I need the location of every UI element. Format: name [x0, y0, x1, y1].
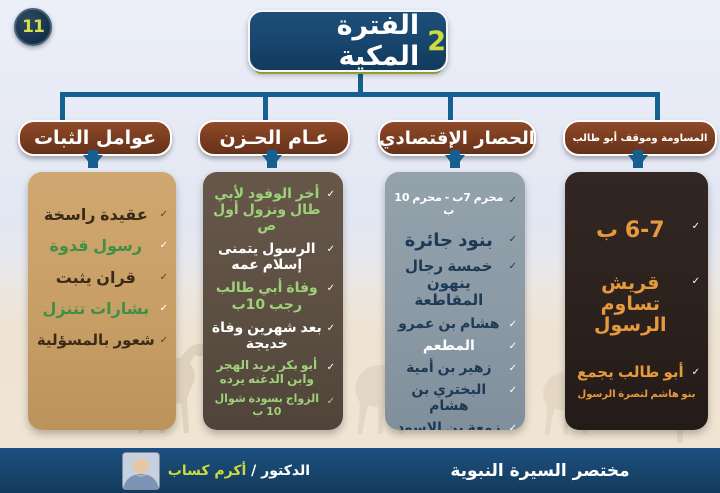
list-item-label: هشام بن عمرو	[393, 316, 505, 332]
check-icon: ✓	[327, 186, 335, 201]
panel-items-list: ✓ 6-7 ب ✓ قريش تساوم الرسول ✓ أبو طالب ي…	[573, 182, 700, 401]
list-item-label: بعد شهرين وفاة خديجة	[211, 320, 323, 352]
list-item[interactable]: ✓ قران يثبت	[36, 269, 168, 287]
footer-author-block: الدكتور / أكرم كساب	[0, 448, 310, 493]
list-item[interactable]: ✓ زهير بن أمية	[393, 360, 517, 376]
list-item-label: وفاة أبي طالب رجب 10ب	[211, 280, 323, 312]
footer-bar: الدكتور / أكرم كساب مختصر السيرة النبوية	[0, 448, 720, 493]
list-item-label: عقيدة راسخة	[36, 206, 156, 224]
page-number-badge: 11	[14, 8, 52, 46]
check-icon: ✓	[692, 273, 700, 288]
connector-drop-2	[263, 92, 268, 120]
list-item-label: أبو بكر يريد الهجر وابن الدغنه يرده	[211, 359, 323, 387]
check-icon: ✓	[327, 359, 335, 374]
list-item[interactable]: ✓ رسول قدوة	[36, 237, 168, 255]
check-icon: ✓	[160, 269, 168, 284]
connector-drop-1	[60, 92, 65, 120]
page-number-text: 11	[22, 17, 44, 37]
list-item[interactable]: ✓ الزواج بسودة شوال 10 ب	[211, 393, 335, 418]
arrow-to-panel-3	[445, 155, 465, 168]
footer-author-name: أكرم كساب	[168, 463, 247, 479]
panel-economic-boycott: ✓ محرم 7ب - محرم 10 ب ✓ بنود جائرة ✓ خمس…	[385, 172, 525, 430]
check-icon: ✓	[160, 206, 168, 221]
list-item-label: الرسول يتمنى إسلام عمه	[211, 241, 323, 273]
list-item[interactable]: ✓ محرم 7ب - محرم 10 ب	[393, 192, 517, 217]
panel-negotiation-abu-talib: ✓ 6-7 ب ✓ قريش تساوم الرسول ✓ أبو طالب ي…	[565, 172, 708, 430]
main-title-wrapper: 2 الفترة المكية	[248, 10, 448, 72]
check-icon: ✓	[509, 360, 517, 375]
infographic-canvas: 11 2 الفترة المكية عوامل الثبات عـام الح…	[0, 0, 720, 493]
list-item-label: أبو طالب يجمع	[573, 364, 688, 381]
check-icon: ✓	[692, 218, 700, 233]
check-icon: ✓	[509, 316, 517, 331]
panel-stability-factors: ✓ عقيدة راسخة ✓ رسول قدوة ✓ قران يثبت ✓ …	[28, 172, 176, 430]
list-item-label: رسول قدوة	[36, 237, 156, 255]
connector-drop-3	[448, 92, 453, 120]
list-item[interactable]: ✓ زمعة بن الاسود	[393, 420, 517, 430]
footer-author-text: الدكتور / أكرم كساب	[168, 463, 310, 479]
category-header-label: الحصار الإقتصادي	[379, 128, 535, 149]
list-item-label: محرم 7ب - محرم 10 ب	[393, 192, 505, 217]
list-item-label: زهير بن أمية	[393, 360, 505, 376]
list-item[interactable]: ✓ هشام بن عمرو	[393, 316, 517, 332]
list-item-label: بنو هاشم لنصرة الرسول	[573, 389, 700, 401]
check-icon: ✓	[509, 338, 517, 353]
category-header-label: المساومة وموقف أبو طالب	[573, 133, 708, 144]
list-item[interactable]: ✓ البختري بن هشام	[393, 382, 517, 414]
list-item[interactable]: ✓ خمسة رجال ينهون المقاطعة	[393, 258, 517, 310]
category-header-label: عوامل الثبات	[34, 127, 156, 149]
list-item[interactable]: ✓ أبو بكر يريد الهجر وابن الدغنه يرده	[211, 359, 335, 387]
arrow-to-panel-1	[83, 155, 103, 168]
list-item[interactable]: ✓ عقيدة راسخة	[36, 206, 168, 224]
connector-horizontal-bar	[60, 92, 660, 97]
check-icon: ✓	[327, 393, 335, 408]
list-item[interactable]: بنو هاشم لنصرة الرسول	[573, 389, 700, 401]
arrow-to-panel-4	[628, 155, 648, 168]
panel-items-list: ✓ أخر الوفود لأبي طال ونزول أول ص ✓ الرس…	[211, 182, 335, 419]
list-item[interactable]: ✓ 6-7 ب	[573, 218, 700, 243]
list-item-label: أخر الوفود لأبي طال ونزول أول ص	[211, 186, 323, 234]
main-title-text: الفترة المكية	[250, 10, 419, 72]
check-icon: ✓	[509, 382, 517, 397]
list-item-label: بشارات تتنزل	[36, 300, 156, 318]
connector-drop-4	[655, 92, 660, 120]
list-item-label: البختري بن هشام	[393, 382, 505, 414]
panel-items-list: ✓ محرم 7ب - محرم 10 ب ✓ بنود جائرة ✓ خمس…	[393, 182, 517, 430]
list-item[interactable]: ✓ بعد شهرين وفاة خديجة	[211, 320, 335, 352]
main-title: 2 الفترة المكية	[248, 10, 448, 72]
footer-author-label: الدكتور /	[251, 463, 310, 479]
check-icon: ✓	[692, 364, 700, 379]
category-header-label: عـام الحـزن	[219, 127, 328, 149]
list-item[interactable]: ✓ المطعم	[393, 338, 517, 354]
check-icon: ✓	[327, 280, 335, 295]
list-item-label: 6-7 ب	[573, 218, 688, 243]
footer-series-title: مختصر السيرة النبوية	[360, 448, 720, 493]
person-avatar-icon	[122, 452, 160, 490]
check-icon: ✓	[509, 420, 517, 430]
list-item-label: خمسة رجال ينهون المقاطعة	[393, 258, 505, 310]
check-icon: ✓	[160, 332, 168, 347]
panel-items-list: ✓ عقيدة راسخة ✓ رسول قدوة ✓ قران يثبت ✓ …	[36, 182, 168, 349]
check-icon: ✓	[327, 241, 335, 256]
list-item[interactable]: ✓ بنود جائرة	[393, 231, 517, 252]
list-item-label: الزواج بسودة شوال 10 ب	[211, 393, 323, 418]
main-title-number: 2	[427, 26, 446, 57]
panel-year-of-sorrow: ✓ أخر الوفود لأبي طال ونزول أول ص ✓ الرس…	[203, 172, 343, 430]
list-item[interactable]: ✓ وفاة أبي طالب رجب 10ب	[211, 280, 335, 312]
list-item[interactable]: ✓ بشارات تتنزل	[36, 300, 168, 318]
list-item[interactable]: ✓ أبو طالب يجمع	[573, 364, 700, 381]
check-icon: ✓	[509, 258, 517, 273]
check-icon: ✓	[509, 192, 517, 207]
check-icon: ✓	[160, 237, 168, 252]
list-item[interactable]: ✓ الرسول يتمنى إسلام عمه	[211, 241, 335, 273]
list-item[interactable]: ✓ أخر الوفود لأبي طال ونزول أول ص	[211, 186, 335, 234]
check-icon: ✓	[160, 300, 168, 315]
check-icon: ✓	[509, 231, 517, 246]
list-item-label: بنود جائرة	[393, 231, 505, 252]
arrow-to-panel-2	[262, 155, 282, 168]
list-item-label: قران يثبت	[36, 269, 156, 287]
list-item[interactable]: ✓ شعور بالمسؤلية	[36, 332, 168, 349]
check-icon: ✓	[327, 320, 335, 335]
list-item[interactable]: ✓ قريش تساوم الرسول	[573, 273, 700, 336]
list-item-label: زمعة بن الاسود	[393, 420, 505, 430]
list-item-label: شعور بالمسؤلية	[36, 332, 156, 349]
list-item-label: قريش تساوم الرسول	[573, 273, 688, 336]
list-item-label: المطعم	[393, 338, 505, 354]
